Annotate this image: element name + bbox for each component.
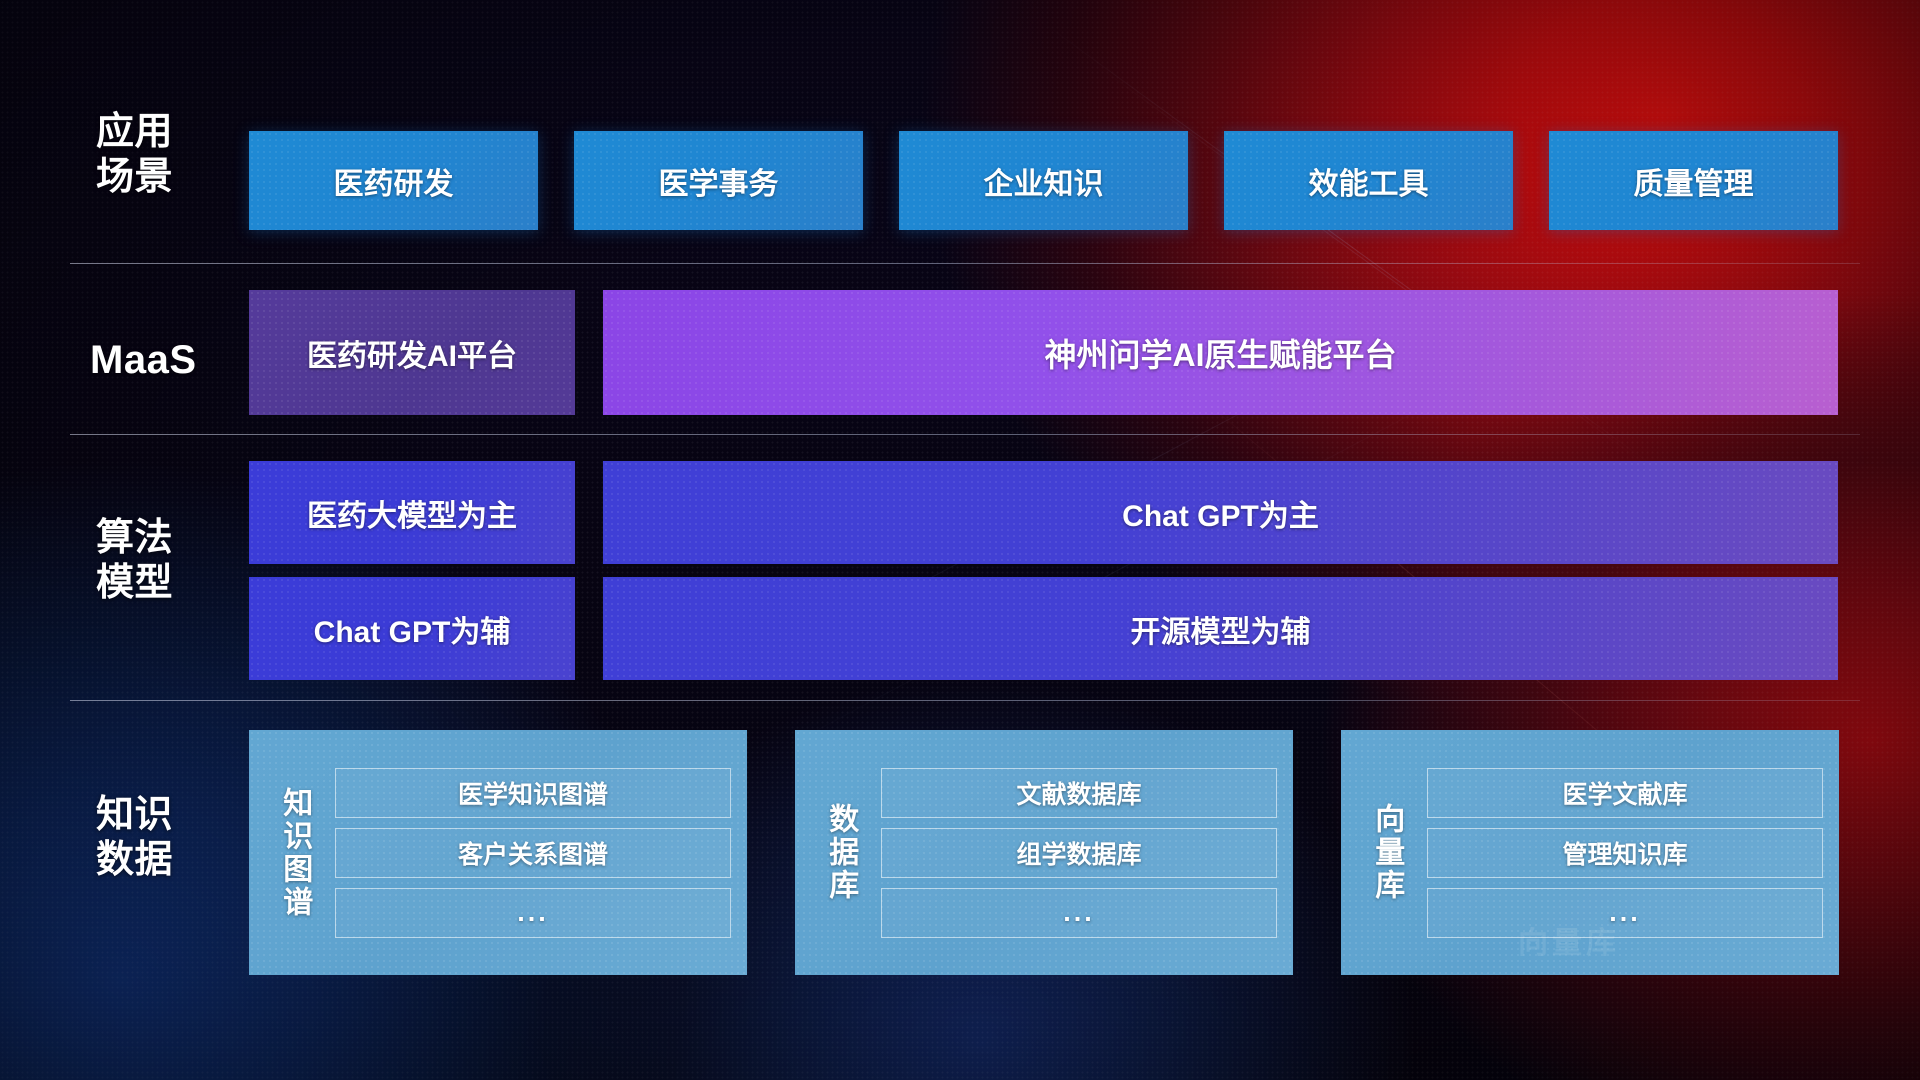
algorithm-card-chatgpt-primary[interactable]: Chat GPT为主 (603, 461, 1838, 564)
algorithm-card-chatgpt-secondary[interactable]: Chat GPT为辅 (249, 577, 575, 680)
maas-card-label: 医药研发AI平台 (307, 331, 517, 375)
scene-card-label: 医药研发 (334, 159, 454, 203)
maas-card-label: 神州问学AI原生赋能平台 (1044, 330, 1396, 376)
knowledge-group-items: 文献数据库 组学数据库 ... (881, 768, 1277, 938)
algorithm-card-label: 医药大模型为主 (307, 491, 517, 535)
knowledge-item-more[interactable]: ... (335, 888, 731, 938)
knowledge-item[interactable]: 组学数据库 (881, 828, 1277, 878)
row-divider-scene-maas (70, 263, 1860, 264)
row-label-scene: 应用 场景 (96, 110, 236, 200)
knowledge-item[interactable]: 医学文献库 (1427, 768, 1823, 818)
row-divider-maas-algorithm (70, 434, 1860, 435)
architecture-diagram: 应用 场景 医药研发 医学事务 企业知识 效能工具 质量管理 MaaS 医药研发… (0, 0, 1920, 1080)
knowledge-group-items: 医学知识图谱 客户关系图谱 ... (335, 768, 731, 938)
scene-card-quality-management[interactable]: 质量管理 (1549, 131, 1838, 230)
scene-card-efficiency-tools[interactable]: 效能工具 (1224, 131, 1513, 230)
row-label-algorithm: 算法 模型 (96, 516, 236, 606)
algorithm-card-open-source-secondary[interactable]: 开源模型为辅 (603, 577, 1838, 680)
knowledge-group-title: 向量库 (1357, 803, 1415, 902)
knowledge-group-title: 数据库 (811, 803, 869, 902)
knowledge-item-more[interactable]: ... (881, 888, 1277, 938)
maas-card-shenzhou-wenxue-platform[interactable]: 神州问学AI原生赋能平台 (603, 290, 1838, 415)
scene-card-enterprise-knowledge[interactable]: 企业知识 (899, 131, 1188, 230)
scene-card-drug-rd[interactable]: 医药研发 (249, 131, 538, 230)
row-label-knowledge: 知识 数据 (96, 793, 236, 883)
knowledge-group-items: 医学文献库 管理知识库 ... (1427, 768, 1823, 938)
algorithm-card-label: 开源模型为辅 (1131, 607, 1311, 651)
knowledge-item[interactable]: 管理知识库 (1427, 828, 1823, 878)
scene-card-label: 医学事务 (659, 159, 779, 203)
knowledge-group-knowledge-graph[interactable]: 知识图谱 医学知识图谱 客户关系图谱 ... (249, 730, 747, 975)
knowledge-group-title: 知识图谱 (265, 787, 323, 919)
maas-card-drug-rd-ai-platform[interactable]: 医药研发AI平台 (249, 290, 575, 415)
knowledge-item-more[interactable]: ... (1427, 888, 1823, 938)
scene-card-medical-affairs[interactable]: 医学事务 (574, 131, 863, 230)
algorithm-card-label: Chat GPT为辅 (314, 607, 511, 651)
row-divider-algorithm-knowledge (70, 700, 1860, 701)
scene-card-label: 企业知识 (984, 159, 1104, 203)
algorithm-card-pharma-llm-primary[interactable]: 医药大模型为主 (249, 461, 575, 564)
algorithm-card-label: Chat GPT为主 (1122, 491, 1319, 535)
scene-card-label: 效能工具 (1309, 159, 1429, 203)
knowledge-item[interactable]: 医学知识图谱 (335, 768, 731, 818)
knowledge-item[interactable]: 客户关系图谱 (335, 828, 731, 878)
scene-card-label: 质量管理 (1634, 159, 1754, 203)
knowledge-item[interactable]: 文献数据库 (881, 768, 1277, 818)
knowledge-group-database[interactable]: 数据库 文献数据库 组学数据库 ... (795, 730, 1293, 975)
